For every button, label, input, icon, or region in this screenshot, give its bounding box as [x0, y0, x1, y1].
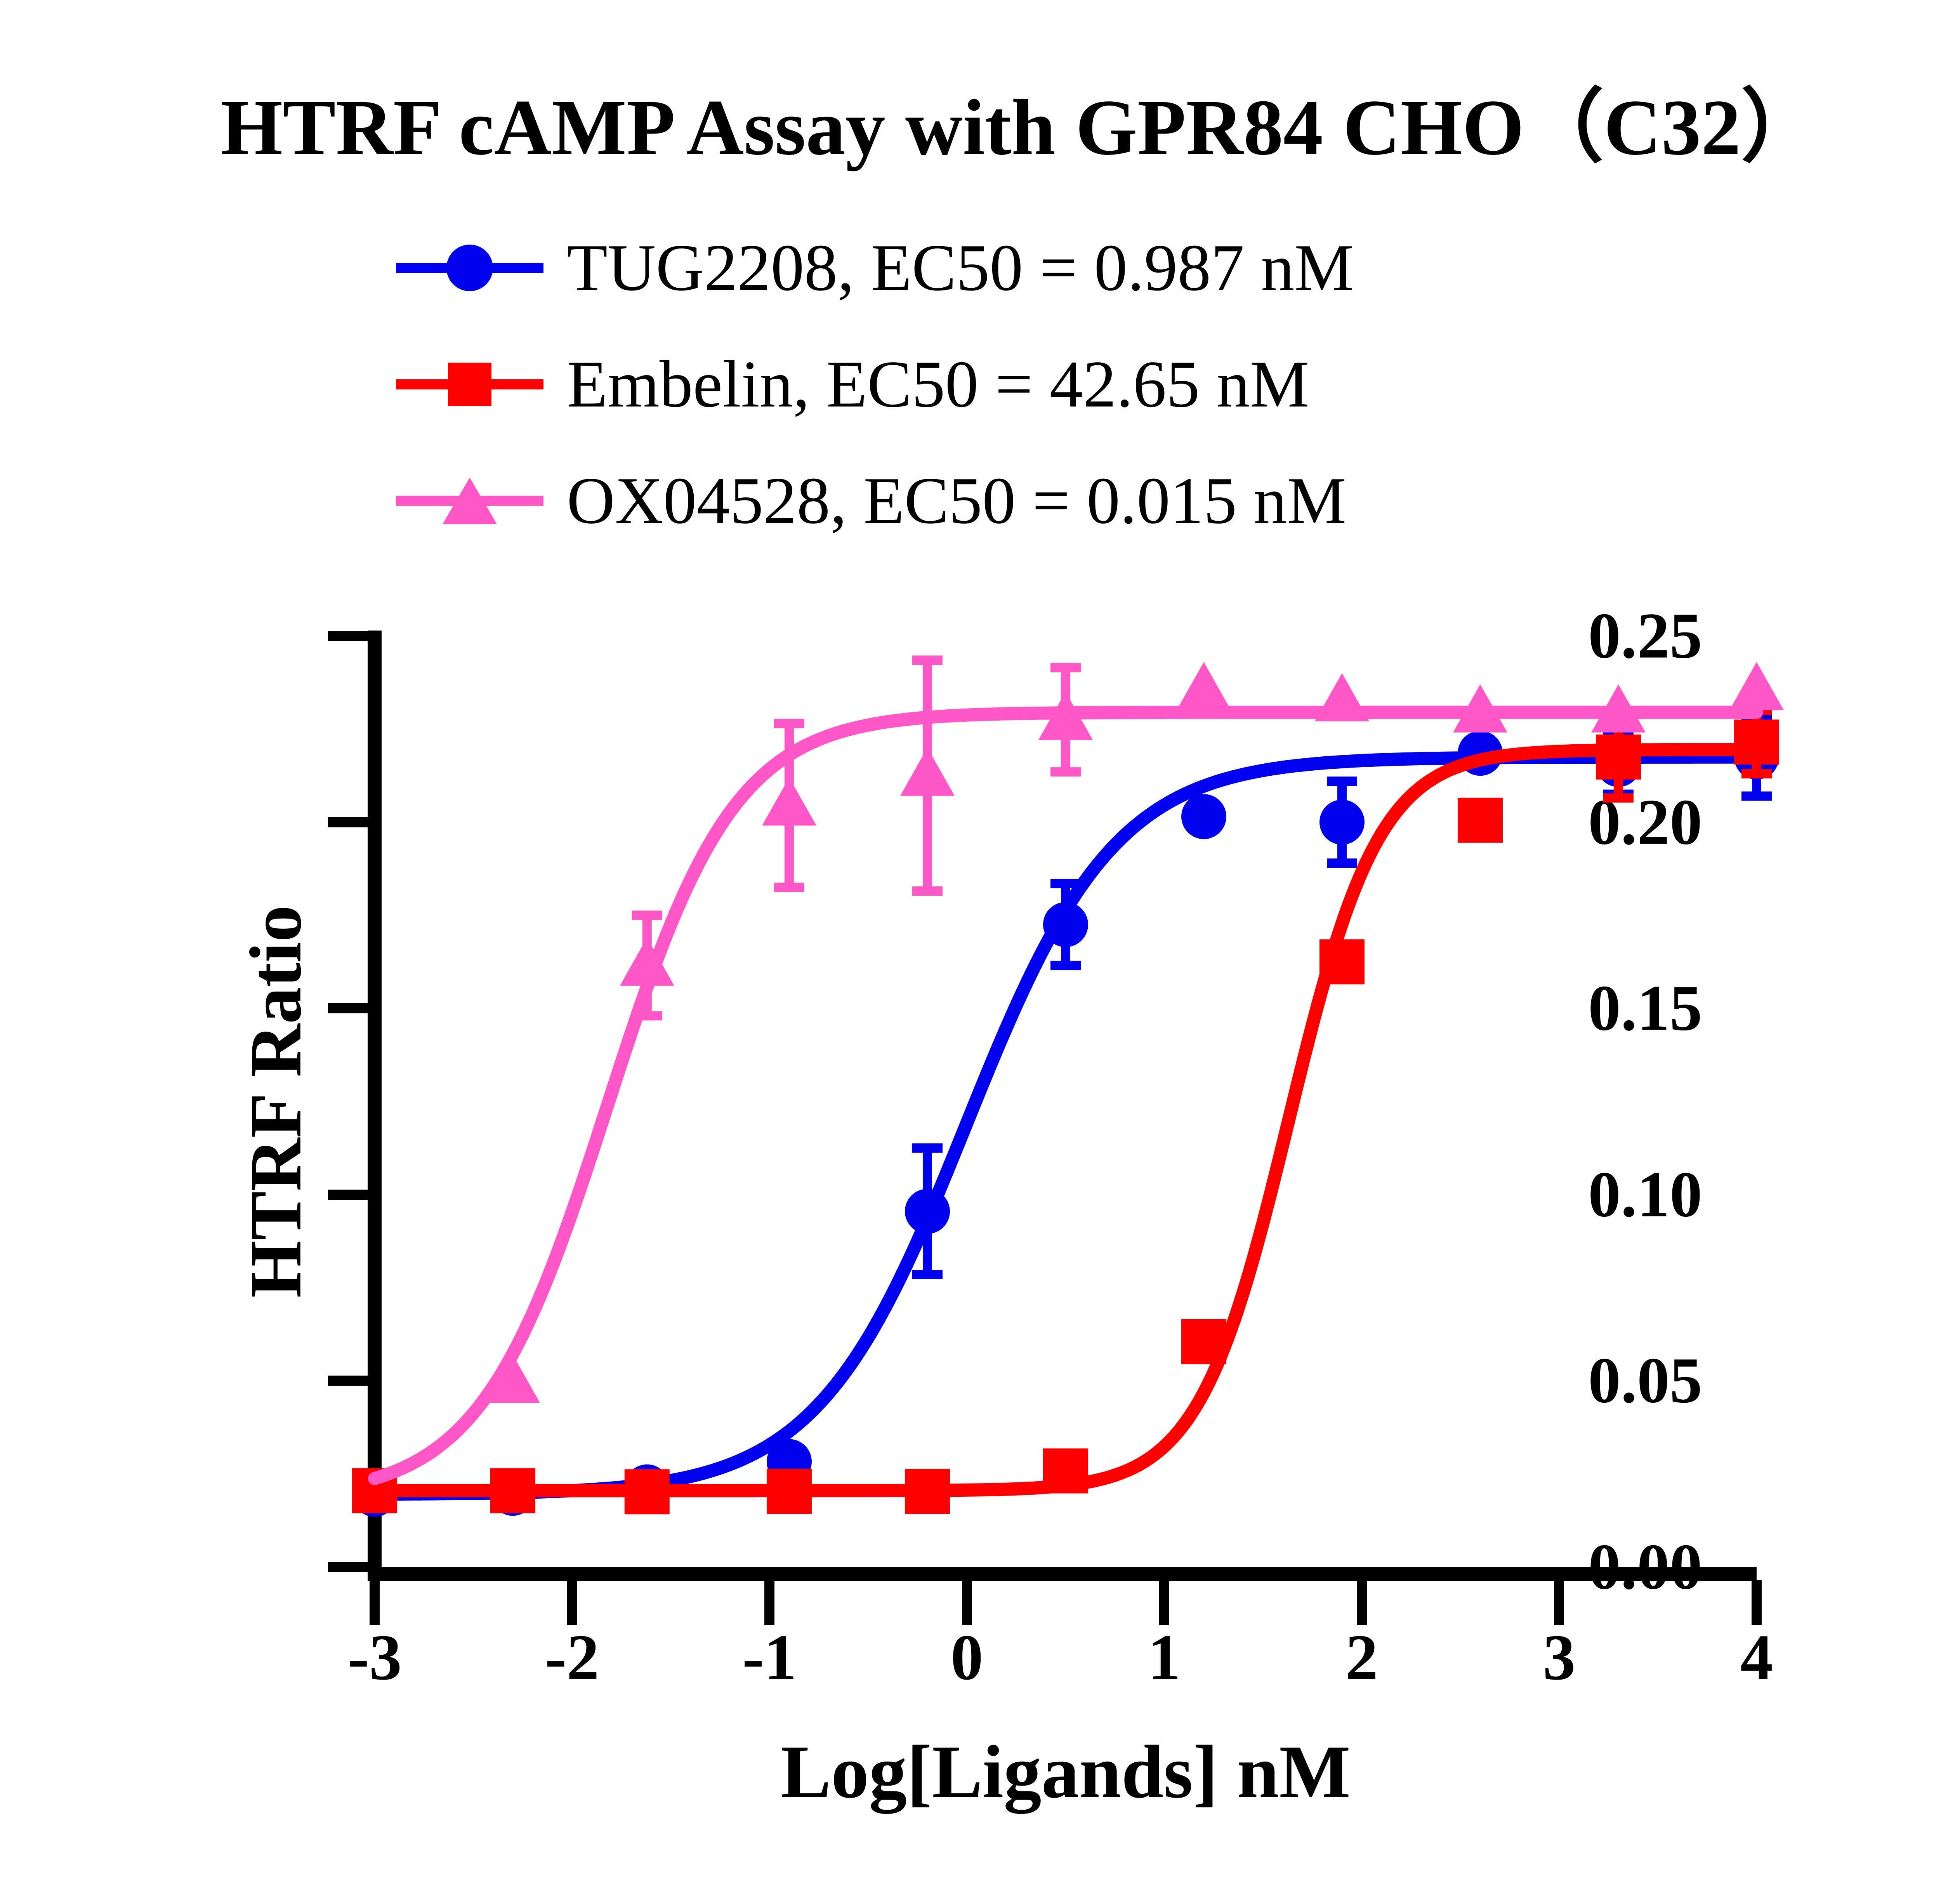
x-tick-label: -1 — [742, 1620, 797, 1695]
x-tick — [764, 1580, 774, 1625]
data-point[interactable] — [762, 777, 816, 825]
y-tick — [328, 1003, 368, 1013]
y-tick — [328, 1190, 368, 1200]
x-tick — [1752, 1580, 1762, 1625]
y-axis-title: HTRF Ratio — [234, 905, 318, 1298]
y-tick — [328, 631, 368, 641]
x-tick-label: 1 — [1148, 1620, 1181, 1695]
x-tick — [962, 1580, 972, 1625]
data-point[interactable] — [767, 1469, 812, 1514]
data-point[interactable] — [1181, 1319, 1226, 1364]
fit-curve — [375, 750, 1757, 1491]
legend-marker-0 — [446, 245, 493, 291]
square-marker-icon — [396, 357, 543, 412]
legend-item-1[interactable]: Embelin, EC50 = 42.65 nM — [396, 326, 1716, 443]
page-title: HTRF cAMP Assay with GPR84 CHO（C32） — [0, 62, 1941, 177]
triangle-marker-icon — [396, 474, 543, 528]
data-point[interactable] — [1043, 902, 1088, 947]
data-point[interactable] — [1596, 735, 1641, 780]
data-point[interactable] — [1729, 662, 1784, 710]
x-tick — [370, 1580, 380, 1625]
y-tick — [328, 1376, 368, 1386]
x-tick-label: -3 — [347, 1620, 402, 1695]
x-tick-label: 3 — [1543, 1620, 1575, 1695]
x-tick — [1357, 1580, 1367, 1625]
legend-label-2: OX04528, EC50 = 0.015 nM — [543, 467, 1346, 534]
y-tick — [328, 817, 368, 827]
series-tug2208 — [352, 718, 1779, 1517]
data-point[interactable] — [1458, 798, 1503, 843]
data-point[interactable] — [490, 1468, 535, 1513]
data-layer — [375, 636, 1757, 1567]
data-point[interactable] — [1319, 800, 1365, 845]
legend-label-1: Embelin, EC50 = 42.65 nM — [543, 351, 1309, 418]
fit-curve — [375, 712, 1757, 1479]
x-tick — [567, 1580, 577, 1625]
legend-marker-1 — [448, 363, 491, 406]
chart-legend: TUG2208, EC50 = 0.987 nM Embelin, EC50 =… — [396, 210, 1716, 559]
plot-area: 0.250.200.150.100.050.00 -3-2-101234 HTR… — [375, 636, 1757, 1567]
legend-item-0[interactable]: TUG2208, EC50 = 0.987 nM — [396, 210, 1716, 326]
x-tick-label: -2 — [545, 1620, 599, 1695]
data-point[interactable] — [1181, 794, 1226, 839]
legend-marker-2 — [443, 478, 497, 524]
data-point[interactable] — [900, 748, 955, 796]
series-ox04528 — [375, 660, 1784, 1478]
legend-item-2[interactable]: OX04528, EC50 = 0.015 nM — [396, 443, 1716, 559]
x-tick-label: 2 — [1346, 1620, 1378, 1695]
data-point[interactable] — [905, 1189, 950, 1234]
legend-label-0: TUG2208, EC50 = 0.987 nM — [543, 235, 1354, 301]
series-embelin — [352, 711, 1779, 1514]
x-axis-title: Log[Ligands] nM — [375, 1729, 1757, 1815]
circle-marker-icon — [396, 241, 543, 295]
x-tick-label: 0 — [951, 1620, 983, 1695]
data-point[interactable] — [905, 1469, 950, 1514]
x-tick — [1159, 1580, 1169, 1625]
chart-figure: HTRF cAMP Assay with GPR84 CHO（C32） TUG2… — [0, 0, 1941, 1904]
x-tick — [1554, 1580, 1564, 1625]
data-point[interactable] — [1043, 1449, 1088, 1494]
fit-curve — [375, 757, 1757, 1494]
x-axis-line — [368, 1567, 1757, 1581]
x-tick-label: 4 — [1740, 1620, 1773, 1695]
data-point[interactable] — [1177, 662, 1231, 710]
data-point[interactable] — [1315, 673, 1369, 721]
y-tick — [328, 1562, 368, 1572]
data-point[interactable] — [1734, 719, 1779, 764]
data-point[interactable] — [625, 1469, 670, 1514]
data-point[interactable] — [1319, 939, 1365, 984]
